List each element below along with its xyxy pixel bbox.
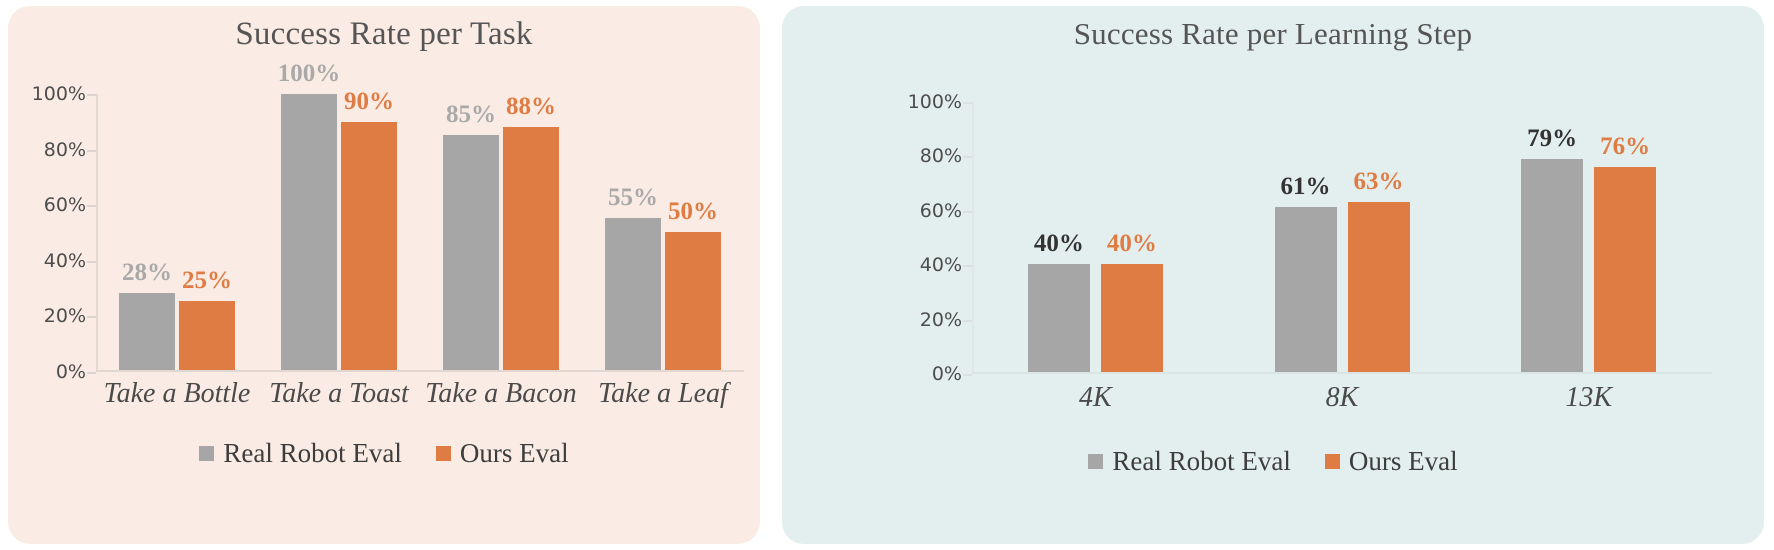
bar-fill xyxy=(443,135,499,370)
bar-real-robot-eval[interactable]: 100% xyxy=(281,94,337,370)
bar-group-4k: 40% 40% xyxy=(972,102,1219,372)
bar-value-label: 90% xyxy=(344,88,394,116)
x-tick-label: Take a Bottle xyxy=(96,378,258,410)
x-tick-label: Take a Bacon xyxy=(420,378,582,410)
legend-item-ours-eval[interactable]: Ours Eval xyxy=(436,438,569,469)
legend-right: Real Robot Eval Ours Eval xyxy=(782,446,1764,477)
bar-groups-right: 40% 40% 61% 63% xyxy=(972,102,1712,372)
x-tick-label: Take a Toast xyxy=(258,378,420,410)
bar-fill xyxy=(605,218,661,370)
chart-title-right: Success Rate per Learning Step xyxy=(782,16,1764,52)
y-tick-mark xyxy=(87,205,96,207)
x-axis-labels-right: 4K 8K 13K xyxy=(972,382,1712,414)
bar-group-take-a-bottle: 28% 25% xyxy=(96,94,258,370)
bar-ours-eval[interactable]: 50% xyxy=(665,232,721,370)
plot-area-right: 40% 40% 61% 63% xyxy=(972,102,1712,374)
charts-container: Success Rate per Task 100% 80% 60% 40% 2… xyxy=(0,0,1774,550)
bar-fill xyxy=(1101,264,1163,372)
bar-fill xyxy=(665,232,721,370)
bar-value-label: 100% xyxy=(278,60,341,88)
x-axis-labels-left: Take a Bottle Take a Toast Take a Bacon … xyxy=(96,378,744,410)
legend-swatch-icon xyxy=(1088,454,1103,469)
bar-value-label: 40% xyxy=(1034,230,1084,258)
bar-group-take-a-bacon: 85% 88% xyxy=(420,94,582,370)
y-tick-label: 0% xyxy=(56,361,86,383)
bar-real-robot-eval[interactable]: 85% xyxy=(443,135,499,370)
bar-fill xyxy=(1028,264,1090,372)
legend-item-real-robot-eval[interactable]: Real Robot Eval xyxy=(199,438,401,469)
y-tick-mark xyxy=(963,320,972,322)
y-tick-mark xyxy=(963,156,972,158)
bar-real-robot-eval[interactable]: 55% xyxy=(605,218,661,370)
legend-item-ours-eval[interactable]: Ours Eval xyxy=(1325,446,1458,477)
bar-ours-eval[interactable]: 76% xyxy=(1594,167,1656,372)
y-tick-label: 40% xyxy=(920,254,962,276)
y-tick-mark xyxy=(87,372,96,374)
y-tick-label: 100% xyxy=(908,91,962,113)
legend-label: Real Robot Eval xyxy=(1112,446,1290,477)
chart-panel-success-rate-per-task: Success Rate per Task 100% 80% 60% 40% 2… xyxy=(8,6,760,544)
y-axis-labels-right: 100% 80% 60% 40% 20% 0% xyxy=(892,102,962,374)
bar-group-take-a-leaf: 55% 50% xyxy=(582,94,744,370)
x-axis-line xyxy=(972,372,1712,374)
bar-value-label: 61% xyxy=(1281,173,1331,201)
legend-swatch-icon xyxy=(1325,454,1340,469)
bar-fill xyxy=(179,301,235,370)
x-tick-label: 4K xyxy=(972,382,1219,414)
y-tick-mark xyxy=(87,316,96,318)
y-tick-label: 80% xyxy=(44,139,86,161)
bar-value-label: 63% xyxy=(1354,168,1404,196)
x-tick-label: 8K xyxy=(1219,382,1466,414)
bar-real-robot-eval[interactable]: 61% xyxy=(1275,207,1337,372)
bar-ours-eval[interactable]: 88% xyxy=(503,127,559,370)
y-tick-label: 0% xyxy=(932,363,962,385)
y-tick-label: 20% xyxy=(44,305,86,327)
y-tick-mark xyxy=(963,211,972,213)
bar-groups-left: 28% 25% 100% 90% xyxy=(96,94,744,370)
bar-fill xyxy=(1275,207,1337,372)
bar-fill xyxy=(1521,159,1583,372)
bar-fill xyxy=(119,293,175,370)
bar-value-label: 88% xyxy=(506,93,556,121)
bar-fill xyxy=(341,122,397,370)
bar-value-label: 85% xyxy=(446,101,496,129)
bar-fill xyxy=(281,94,337,370)
bar-value-label: 50% xyxy=(668,198,718,226)
chart-panel-success-rate-per-learning-step: Success Rate per Learning Step 100% 80% … xyxy=(782,6,1764,544)
y-tick-mark xyxy=(963,102,972,104)
bar-ours-eval[interactable]: 40% xyxy=(1101,264,1163,372)
chart-title-left: Success Rate per Task xyxy=(8,16,760,53)
bar-real-robot-eval[interactable]: 40% xyxy=(1028,264,1090,372)
legend-swatch-icon xyxy=(436,446,451,461)
bar-fill xyxy=(503,127,559,370)
bar-value-label: 55% xyxy=(608,184,658,212)
y-axis-labels-left: 100% 80% 60% 40% 20% 0% xyxy=(16,94,86,372)
x-tick-label: 13K xyxy=(1465,382,1712,414)
legend-left: Real Robot Eval Ours Eval xyxy=(8,438,760,469)
legend-label: Real Robot Eval xyxy=(223,438,401,469)
x-axis-line xyxy=(96,370,744,372)
y-tick-mark xyxy=(963,265,972,267)
y-tick-mark xyxy=(87,150,96,152)
y-tick-label: 40% xyxy=(44,250,86,272)
bar-value-label: 28% xyxy=(122,259,172,287)
y-tick-label: 60% xyxy=(920,200,962,222)
y-tick-mark xyxy=(87,94,96,96)
bar-real-robot-eval[interactable]: 79% xyxy=(1521,159,1583,372)
y-tick-mark xyxy=(87,261,96,263)
bar-value-label: 79% xyxy=(1527,125,1577,153)
legend-item-real-robot-eval[interactable]: Real Robot Eval xyxy=(1088,446,1290,477)
bar-fill xyxy=(1348,202,1410,372)
y-tick-label: 100% xyxy=(32,83,86,105)
bar-value-label: 40% xyxy=(1107,230,1157,258)
bar-fill xyxy=(1594,167,1656,372)
x-tick-label: Take a Leaf xyxy=(582,378,744,410)
y-tick-label: 80% xyxy=(920,145,962,167)
legend-label: Ours Eval xyxy=(1349,446,1458,477)
bar-group-take-a-toast: 100% 90% xyxy=(258,94,420,370)
bar-real-robot-eval[interactable]: 28% xyxy=(119,293,175,370)
bar-ours-eval[interactable]: 63% xyxy=(1348,202,1410,372)
plot-area-left: 28% 25% 100% 90% xyxy=(96,94,744,372)
y-tick-mark xyxy=(963,374,972,376)
bar-value-label: 76% xyxy=(1600,133,1650,161)
legend-swatch-icon xyxy=(199,446,214,461)
bar-ours-eval[interactable]: 90% xyxy=(341,122,397,370)
bar-ours-eval[interactable]: 25% xyxy=(179,301,235,370)
legend-label: Ours Eval xyxy=(460,438,569,469)
y-tick-label: 20% xyxy=(920,309,962,331)
y-tick-label: 60% xyxy=(44,194,86,216)
bar-group-13k: 79% 76% xyxy=(1465,102,1712,372)
bar-group-8k: 61% 63% xyxy=(1219,102,1466,372)
bar-value-label: 25% xyxy=(182,267,232,295)
